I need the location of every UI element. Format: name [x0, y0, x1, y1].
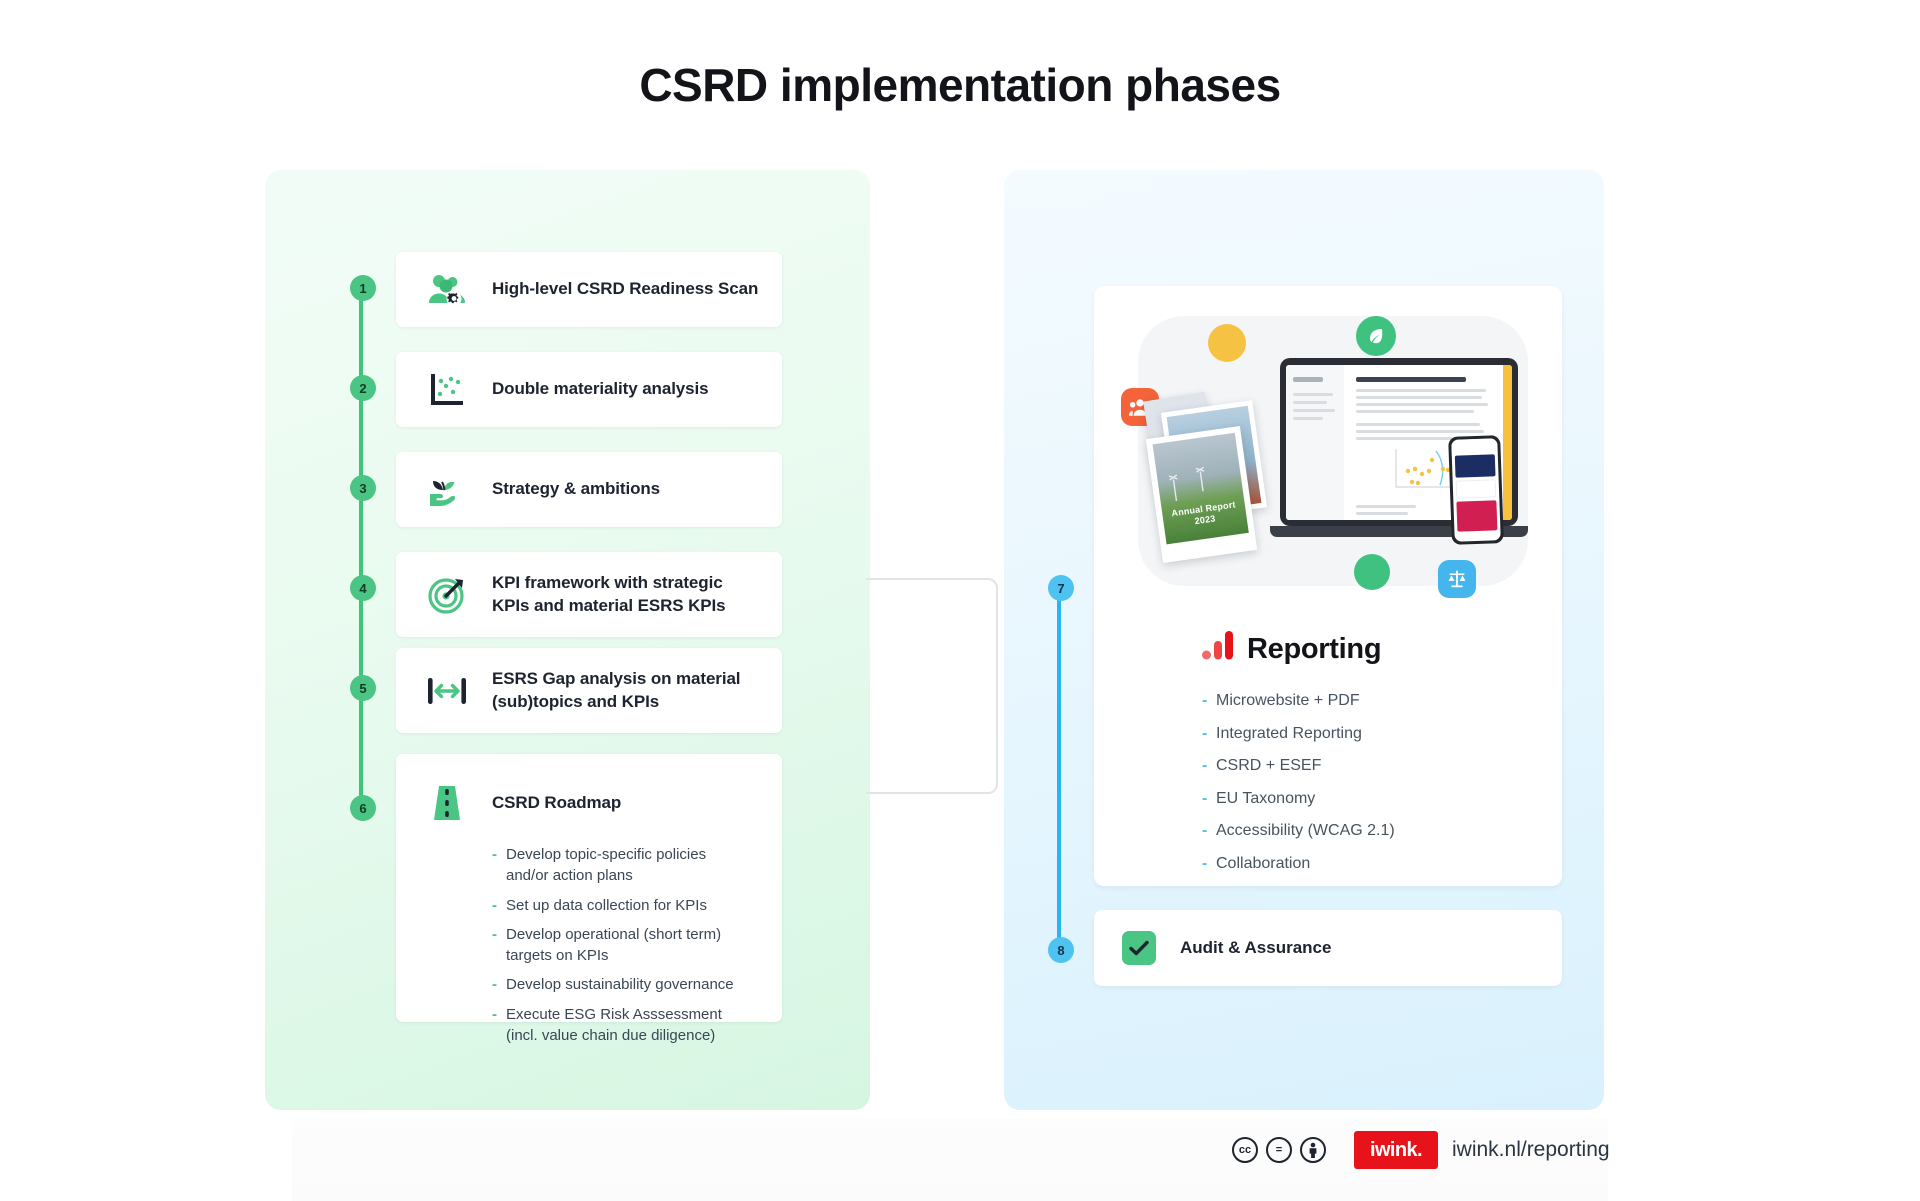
- photo-front-annual-report: Annual Report 2023: [1146, 426, 1257, 563]
- scatter-chart-icon: [424, 367, 470, 413]
- timeline-node-8[interactable]: 8: [1048, 937, 1074, 963]
- reporting-content: Reporting Microwebsite + PDF Integrated …: [1094, 616, 1562, 875]
- yellow-dot-badge: [1208, 324, 1246, 362]
- sprout-in-hand-icon: [424, 467, 470, 513]
- timeline-node-5[interactable]: 5: [350, 675, 376, 701]
- timeline-node-2[interactable]: 2: [350, 375, 376, 401]
- screen-heading: [1356, 377, 1466, 382]
- timeline-node-1[interactable]: 1: [350, 275, 376, 301]
- screen-sidebar: [1286, 365, 1344, 520]
- reporting-heading: Reporting: [1202, 630, 1562, 668]
- iwink-url[interactable]: iwink.nl/reporting: [1452, 1138, 1610, 1162]
- reporting-title-text: Reporting: [1247, 633, 1381, 666]
- roadmap-bullet: Set up data collection for KPIs: [492, 895, 742, 916]
- roadmap-bullet-list: Develop topic-specific policies and/or a…: [492, 844, 754, 1046]
- phase-card-1-label: High-level CSRD Readiness Scan: [492, 278, 758, 301]
- phase-card-1[interactable]: High-level CSRD Readiness Scan: [396, 252, 782, 327]
- phase-card-6-label: CSRD Roadmap: [492, 792, 621, 815]
- reporting-bullet-list: Microwebsite + PDF Integrated Reporting …: [1202, 690, 1562, 875]
- timeline-node-7[interactable]: 7: [1048, 575, 1074, 601]
- phase-card-4-label: KPI framework with strategic KPIs and ma…: [492, 572, 742, 618]
- phase-card-4[interactable]: KPI framework with strategic KPIs and ma…: [396, 552, 782, 637]
- phase-card-3-label: Strategy & ambitions: [492, 478, 660, 501]
- person-icon: [1306, 1142, 1320, 1158]
- audit-assurance-label: Audit & Assurance: [1180, 938, 1331, 958]
- leaf-icon: [1365, 325, 1387, 347]
- check-icon: [1122, 931, 1156, 965]
- reporting-bullet: EU Taxonomy: [1202, 788, 1562, 810]
- timeline-node-3[interactable]: 3: [350, 475, 376, 501]
- panel-connector: [866, 578, 998, 794]
- phase-card-5-label: ESRS Gap analysis on material (sub)topic…: [492, 668, 742, 714]
- timeline-node-4[interactable]: 4: [350, 575, 376, 601]
- people-gear-icon: [424, 267, 470, 313]
- phase-card-6[interactable]: CSRD Roadmap Develop topic-specific poli…: [396, 754, 782, 1022]
- infographic-root: CSRD implementation phases 1 2 3 4 5 6: [0, 0, 1920, 1201]
- roadmap-bullet: Develop topic-specific policies and/or a…: [492, 844, 742, 887]
- reporting-bullet: Accessibility (WCAG 2.1): [1202, 820, 1562, 842]
- gap-arrows-icon: [424, 668, 470, 714]
- reporting-bullet: Integrated Reporting: [1202, 723, 1562, 745]
- scales-icon: [1446, 568, 1468, 590]
- cc-nd-icon: =: [1266, 1137, 1292, 1163]
- reporting-bullet: Collaboration: [1202, 853, 1562, 875]
- scales-badge: [1438, 560, 1476, 598]
- reporting-bullet: CSRD + ESEF: [1202, 755, 1562, 777]
- reporting-card[interactable]: Annual Report 2023 Reporting Micro: [1094, 286, 1562, 886]
- page-title: CSRD implementation phases: [0, 58, 1920, 112]
- target-dart-icon: [424, 572, 470, 618]
- bar-chart-icon: [1202, 630, 1235, 668]
- cc-icon: cc: [1232, 1137, 1258, 1163]
- cc-by-icon: [1300, 1137, 1326, 1163]
- timeline-line: [359, 288, 363, 808]
- roadmap-bullet: Develop operational (short term) targets…: [492, 924, 742, 967]
- phase-card-2[interactable]: Double materiality analysis: [396, 352, 782, 427]
- leaf-badge: [1356, 316, 1396, 356]
- green-dot-badge: [1354, 554, 1390, 590]
- creative-commons-icons: cc =: [1232, 1137, 1326, 1163]
- screen-accent-bar: [1503, 365, 1512, 520]
- audit-assurance-card[interactable]: Audit & Assurance: [1094, 910, 1562, 986]
- phone-screen: [1451, 438, 1501, 542]
- phone-mockup: [1448, 435, 1504, 545]
- reporting-illustration: Annual Report 2023: [1094, 286, 1562, 616]
- timeline-line: [1057, 588, 1061, 950]
- phase-card-3[interactable]: Strategy & ambitions: [396, 452, 782, 527]
- iwink-logo[interactable]: iwink.: [1354, 1131, 1438, 1169]
- timeline-node-6[interactable]: 6: [350, 795, 376, 821]
- roadmap-bullet: Execute ESG Risk Asssessment (incl. valu…: [492, 1004, 742, 1047]
- phase-card-5[interactable]: ESRS Gap analysis on material (sub)topic…: [396, 648, 782, 733]
- phase-card-2-label: Double materiality analysis: [492, 378, 709, 401]
- reporting-bullet: Microwebsite + PDF: [1202, 690, 1562, 712]
- roadmap-bullet: Develop sustainability governance: [492, 974, 742, 995]
- road-icon: [424, 780, 470, 826]
